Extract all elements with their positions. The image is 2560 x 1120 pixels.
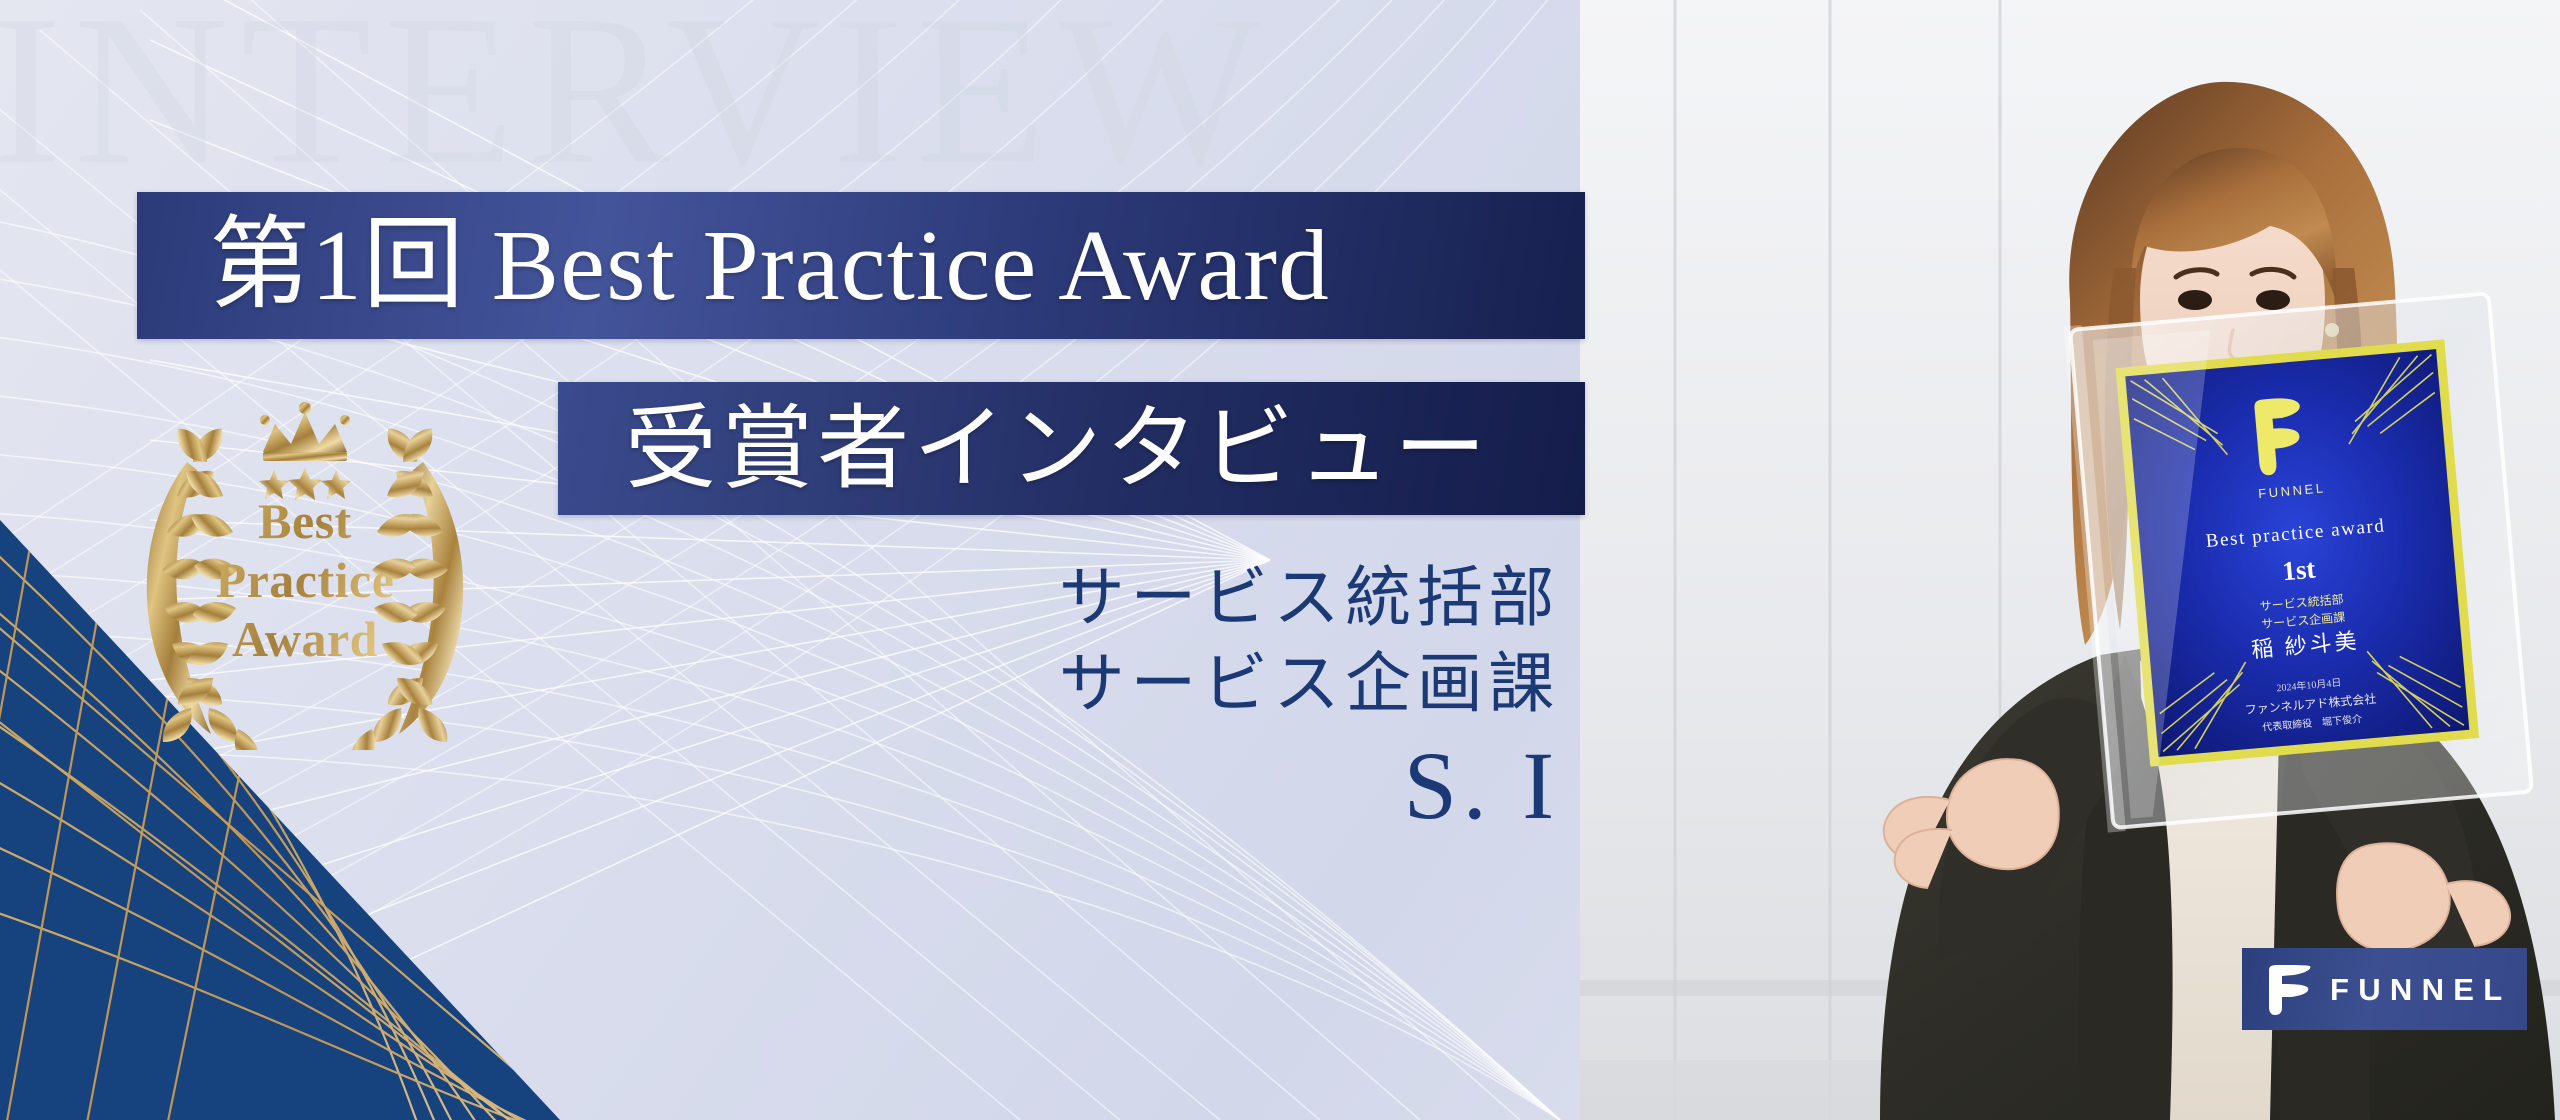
svg-text:1st: 1st — [2281, 554, 2316, 587]
laurel-wreath-icon — [105, 400, 505, 750]
affiliation-name: S. I — [760, 730, 1560, 841]
crown-icon — [260, 402, 350, 461]
best-practice-award-badge: Best Practice Award — [105, 400, 505, 750]
funnel-f-mark-icon — [2268, 963, 2312, 1015]
award-recipient-photo: FUNNEL Best practice award 1st サービス統括部 サ… — [1580, 0, 2560, 1120]
interview-banner: INTERVIEW — [0, 0, 2560, 1120]
title-bar-main-text: 第1回 Best Practice Award — [209, 215, 1330, 316]
title-bar-sub: 受賞者インタビュー — [558, 382, 1585, 515]
title-bar-sub-text: 受賞者インタビュー — [625, 403, 1490, 495]
affiliation-block: サービス統括部 サービス企画課 S. I — [760, 556, 1560, 841]
title-bar-main: 第1回 Best Practice Award — [137, 192, 1585, 339]
affiliation-section: サービス企画課 — [760, 642, 1560, 728]
stars-group — [259, 468, 351, 500]
affiliation-department: サービス統括部 — [760, 556, 1560, 642]
funnel-wordmark: FUNNEL — [2330, 974, 2512, 1005]
funnel-logo: FUNNEL — [2242, 948, 2527, 1030]
